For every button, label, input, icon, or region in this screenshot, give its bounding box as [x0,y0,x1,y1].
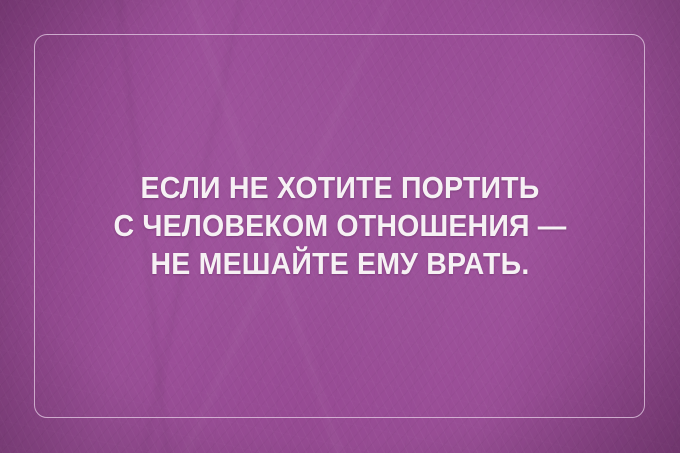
quote-text-block: ЕСЛИ НЕ ХОТИТЕ ПОРТИТЬ С ЧЕЛОВЕКОМ ОТНОШ… [0,169,680,283]
quote-card: ЕСЛИ НЕ ХОТИТЕ ПОРТИТЬ С ЧЕЛОВЕКОМ ОТНОШ… [0,0,680,453]
quote-line-1: ЕСЛИ НЕ ХОТИТЕ ПОРТИТЬ [60,169,621,207]
quote-line-2: С ЧЕЛОВЕКОМ ОТНОШЕНИЯ — [60,207,621,245]
quote-line-3: НЕ МЕШАЙТЕ ЕМУ ВРАТЬ. [60,245,621,283]
